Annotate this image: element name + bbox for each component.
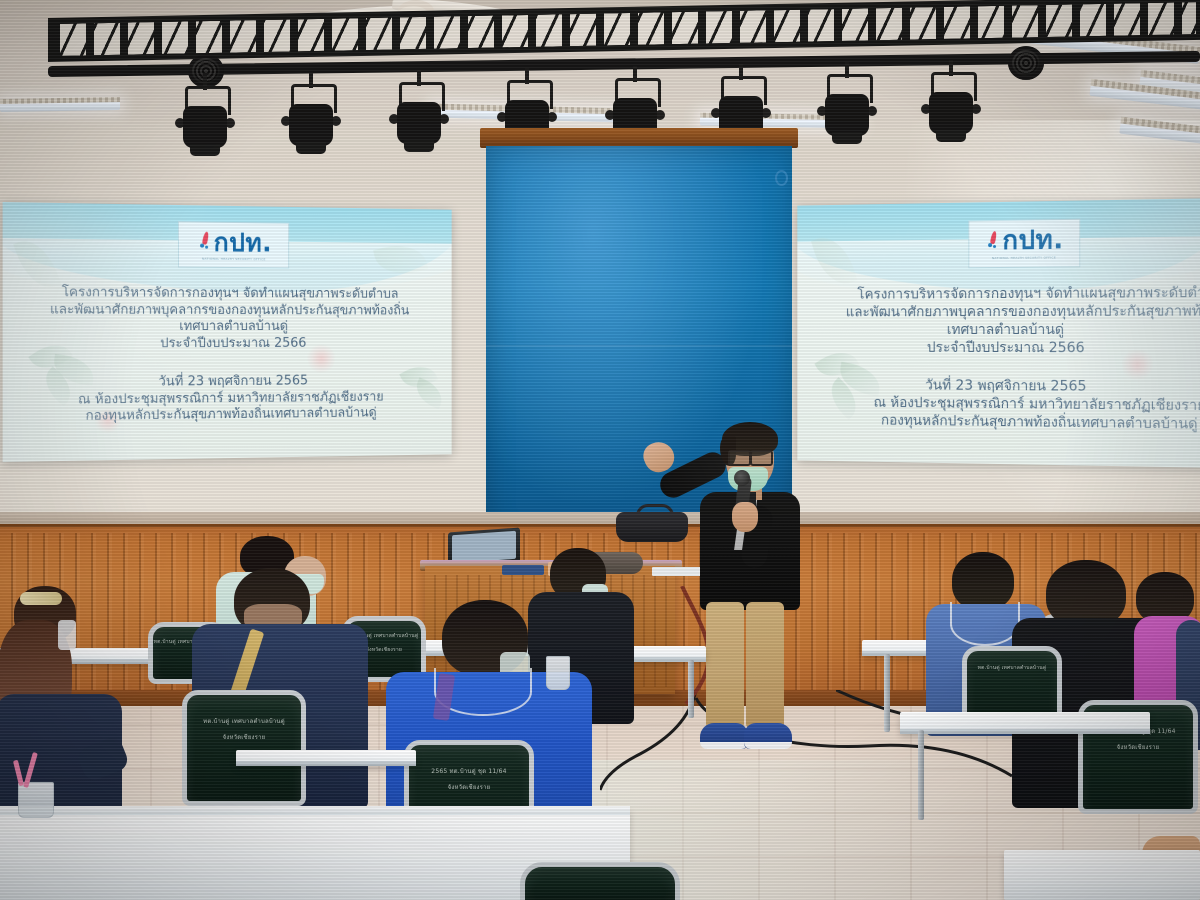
presenter xyxy=(640,420,830,765)
curtain-hook-icon xyxy=(775,170,788,186)
table-leg xyxy=(688,660,694,718)
chair-stencil-line: ทต.บ้านดู่ เทศบาลตำบลบ้านดู่ xyxy=(182,716,306,726)
logo-text: กปท. xyxy=(1002,227,1063,254)
mic-hand xyxy=(732,502,758,532)
projection-screen-left: กปท. NATIONAL HEALTH SECURITY OFFICE โคร… xyxy=(3,202,452,462)
chair-stencil-line: จังหวัดเชียงราย xyxy=(182,732,306,742)
slide-line: กองทุนหลักประกันสุขภาพท้องถิ่นเทศบาลตำบล… xyxy=(807,412,1200,436)
trousers-right xyxy=(746,602,784,728)
table-row xyxy=(236,750,416,766)
slide-line: ประจำปีงบประมาณ 2566 xyxy=(3,336,452,353)
slide-line: ประจำปีงบประมาณ 2566 xyxy=(807,340,1200,359)
chair-stencil-line: ทต.บ้านดู่ เทศบาลตำบลบ้านดู่ xyxy=(962,664,1062,672)
logo-subtitle: NATIONAL HEALTH SECURITY OFFICE xyxy=(202,256,266,261)
slide-line: เทศบาลตำบลบ้านดู่ xyxy=(807,321,1200,339)
conference-room-photo: กปท. NATIONAL HEALTH SECURITY OFFICE โคร… xyxy=(0,0,1200,900)
slide-line: โครงการบริหารจัดการกองทุนฯ จัดทำแผนสุขภา… xyxy=(3,285,452,304)
table-edge xyxy=(0,806,630,815)
curtain-seam xyxy=(486,345,792,347)
fluorescent-light xyxy=(0,97,120,112)
logo-subtitle: NATIONAL HEALTH SECURITY OFFICE xyxy=(992,255,1056,260)
nhso-logo: กปท. NATIONAL HEALTH SECURITY OFFICE xyxy=(178,221,289,268)
chair-stencil-line: จังหวัดเชียงราย xyxy=(1078,742,1198,752)
curtain-valance xyxy=(480,128,798,148)
eyeglasses-left-lens xyxy=(728,450,751,466)
chair-stencil-line: 2565 ทต.บ้านดู่ ชุด 11/64 xyxy=(404,766,534,776)
pink-straw-cup xyxy=(18,782,54,818)
table-leg xyxy=(884,654,890,732)
slide-detail-block: วันที่ 23 พฤศจิกายน 2565 ณ ห้องประชุมสุพ… xyxy=(807,377,1200,436)
lighting-truss xyxy=(48,18,1200,82)
clear-cup xyxy=(546,656,570,690)
shoe-right xyxy=(744,723,792,749)
table-row xyxy=(900,712,1150,734)
laptop-screen xyxy=(452,531,516,563)
chair: ทต.บ้านดู่ เทศบาลตำบลบ้านดู่ จังหวัดเชีย… xyxy=(182,690,306,806)
slide-line: เทศบาลตำบลบ้านดู่ xyxy=(3,319,452,336)
led-par-light xyxy=(1008,46,1044,80)
trousers-left xyxy=(706,602,744,728)
projection-screen-right: กปท. NATIONAL HEALTH SECURITY OFFICE โคร… xyxy=(797,198,1200,468)
slide-line: กองทุนหลักประกันสุขภาพท้องถิ่นเทศบาลตำบล… xyxy=(3,405,452,427)
face-mask-strap xyxy=(58,620,76,650)
nhso-logo: กปท. NATIONAL HEALTH SECURITY OFFICE xyxy=(968,219,1080,269)
hair-clip xyxy=(20,592,62,605)
slide-heading-block: โครงการบริหารจัดการกองทุนฯ จัดทำแผนสุขภา… xyxy=(807,284,1200,358)
shoe-left xyxy=(700,723,748,749)
logo-text: กปท. xyxy=(214,229,272,255)
slide-line: โครงการบริหารจัดการกองทุนฯ จัดทำแผนสุขภา… xyxy=(807,284,1200,304)
slide-line: และพัฒนาศักยภาพบุคลากรของกองทุนหลักประกั… xyxy=(807,303,1200,322)
table-row xyxy=(1004,850,1200,900)
chair xyxy=(520,862,680,900)
table-leg xyxy=(918,730,924,820)
chair-stencil-line: จังหวัดเชียงราย xyxy=(404,782,534,792)
lanyard xyxy=(950,602,1020,646)
slide-detail-block: วันที่ 23 พฤศจิกายน 2565 ณ ห้องประชุมสุพ… xyxy=(3,373,452,427)
slide-line: และพัฒนาศักยภาพบุคลากรของกองทุนหลักประกั… xyxy=(3,302,452,320)
slide-heading-block: โครงการบริหารจัดการกองทุนฯ จัดทำแผนสุขภา… xyxy=(3,285,452,354)
eyeglasses-right-lens xyxy=(750,450,773,466)
microphone-head-icon xyxy=(734,470,750,486)
